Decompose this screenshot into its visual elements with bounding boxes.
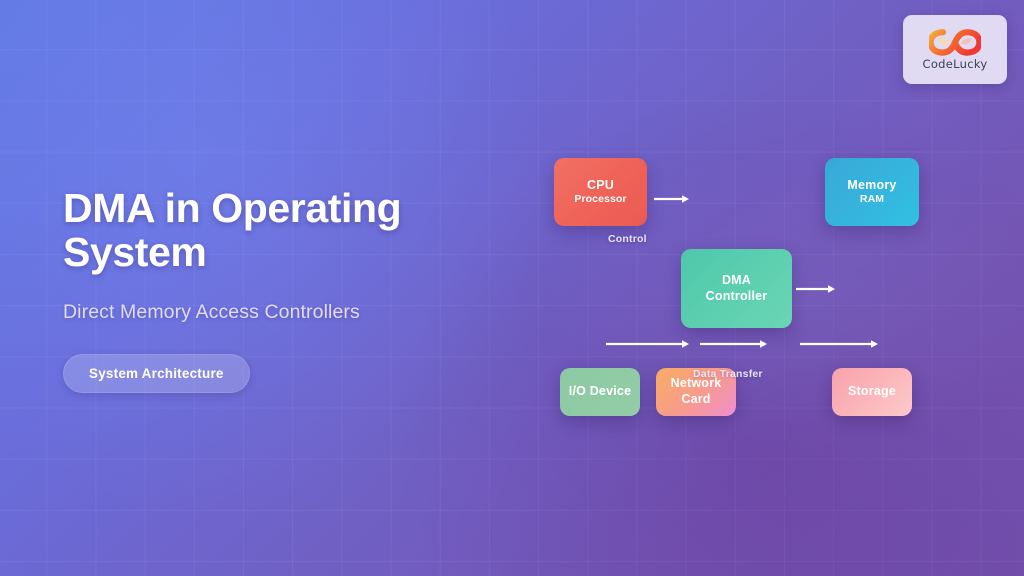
node-cpu-title: CPU xyxy=(587,178,614,194)
diagram-node-memory[interactable]: Memory RAM xyxy=(825,158,919,226)
slide-canvas: CodeLucky DMA in Operating System Direct… xyxy=(0,0,1024,576)
arrow-bus-segment-3 xyxy=(800,339,879,349)
arrow-dma-to-memory xyxy=(796,284,836,294)
node-memory-title: Memory xyxy=(847,178,896,194)
node-dma-title: DMA xyxy=(722,273,751,289)
arrow-cpu-to-dma xyxy=(654,194,690,204)
node-io-title: I/O Device xyxy=(569,384,631,400)
dma-architecture-diagram: CPU Processor Memory RAM DMA Controller … xyxy=(0,0,1024,576)
diagram-node-dma-controller[interactable]: DMA Controller xyxy=(681,249,792,328)
node-cpu-subtitle: Processor xyxy=(574,193,626,206)
arrow-bus-segment-1 xyxy=(606,339,690,349)
node-storage-title: Storage xyxy=(848,384,896,400)
diagram-node-cpu[interactable]: CPU Processor xyxy=(554,158,647,226)
node-network-card-title: Network Card xyxy=(656,376,736,407)
node-memory-subtitle: RAM xyxy=(860,193,884,206)
edge-label-data-transfer: Data Transfer xyxy=(693,368,763,380)
diagram-node-io-device[interactable]: I/O Device xyxy=(560,368,640,416)
node-dma-subtitle: Controller xyxy=(706,289,768,305)
edge-label-control: Control xyxy=(608,233,647,245)
diagram-node-storage[interactable]: Storage xyxy=(832,368,912,416)
arrow-bus-segment-2 xyxy=(700,339,768,349)
